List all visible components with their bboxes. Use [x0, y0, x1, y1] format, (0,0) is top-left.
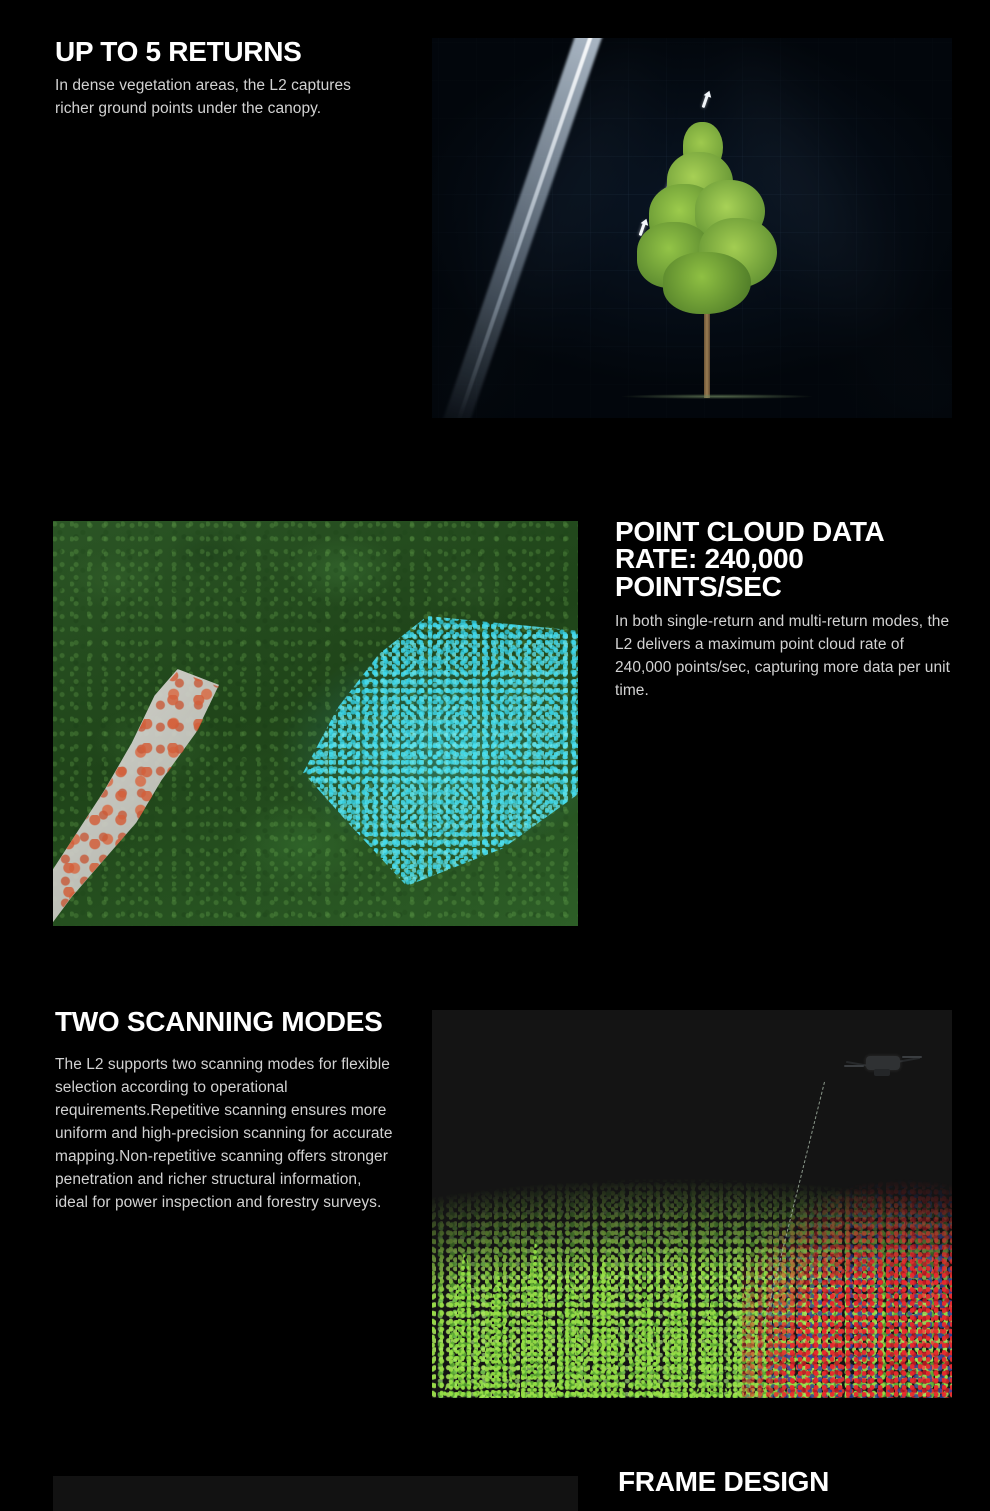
ground-line [622, 394, 812, 399]
section-body-text: In dense vegetation areas, the L2 captur… [55, 74, 385, 120]
page-title: TWO SCANNING MODES [55, 1008, 400, 1035]
section-up-to-5-returns-text: UP TO 5 RETURNS In dense vegetation area… [55, 38, 400, 120]
page-title: UP TO 5 RETURNS [55, 38, 400, 65]
tree-canopy [637, 122, 777, 322]
frame-design-image [53, 1476, 578, 1511]
page-title: POINT CLOUD DATA RATE: 240,000 POINTS/SE… [615, 518, 960, 600]
section-body-text: The L2 supports two scanning modes for f… [55, 1053, 395, 1214]
lidar-tree-returns-visualization [432, 38, 952, 418]
drone-icon [844, 1046, 922, 1086]
aerial-valley-point-cloud-overlay [53, 521, 578, 926]
page-title: FRAME DESIGN [618, 1468, 963, 1495]
drone-scanning-forest-point-cloud [432, 1010, 952, 1398]
section-body-text: In both single-return and multi-return m… [615, 610, 950, 702]
section-point-cloud-data-rate-text: POINT CLOUD DATA RATE: 240,000 POINTS/SE… [615, 518, 960, 702]
product-feature-page: UP TO 5 RETURNS In dense vegetation area… [0, 0, 990, 1511]
section-two-scanning-modes-text: TWO SCANNING MODES The L2 supports two s… [55, 1008, 400, 1214]
section-frame-design-text: FRAME DESIGN [618, 1468, 963, 1495]
